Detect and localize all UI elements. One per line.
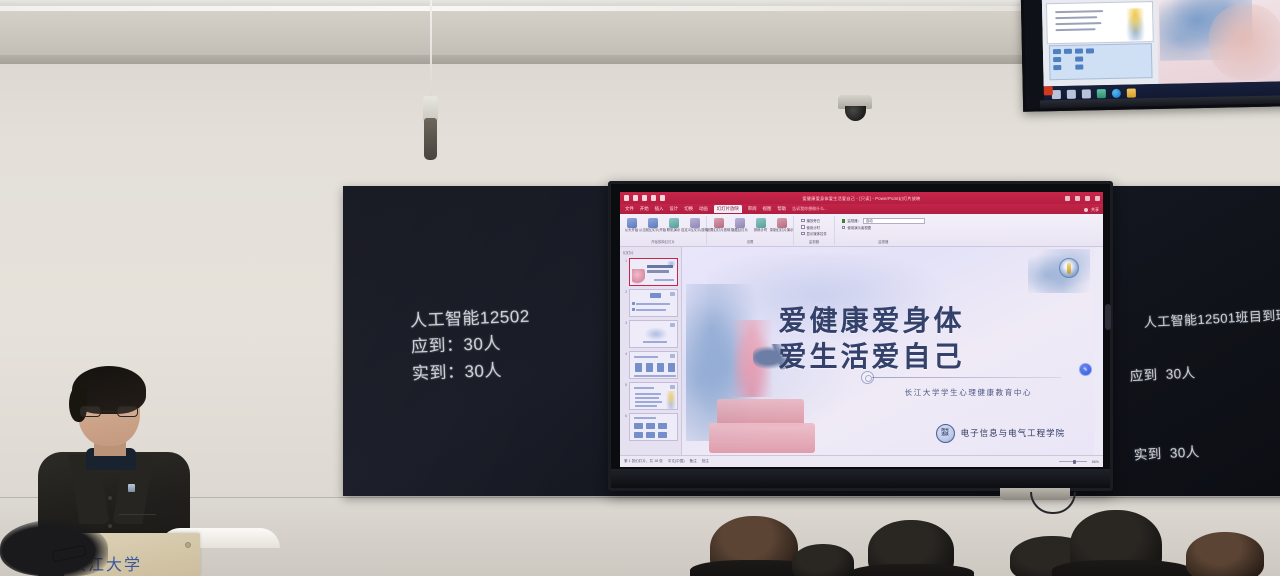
search-icon[interactable] <box>1067 89 1076 98</box>
classroom-scene: 人工智能12502 应到：30人 实到：30人 人工智能12501班目到班情况 … <box>0 0 1280 576</box>
thumbnail-row[interactable]: 1 <box>623 258 678 286</box>
thumbnail-number: 3 <box>623 320 627 325</box>
slide-thumbnail-4[interactable] <box>629 351 678 379</box>
ribbon-group-setup: 设置幻灯片放映 隐藏幻灯片 排练计时 <box>707 216 794 245</box>
checkbox-show-media-controls[interactable]: 显示媒体控件 <box>801 231 827 236</box>
slide-thumbnail-6[interactable] <box>629 413 678 441</box>
ribbon-group-name: 监视器 <box>809 239 819 245</box>
thumbnail-row[interactable]: 2 <box>623 289 678 317</box>
slide-thumbnail-1[interactable] <box>629 258 678 286</box>
right-notes-header: 人工智能12501班目到班情况 <box>1143 306 1280 330</box>
suitcase-upper-illustration <box>717 399 804 426</box>
checkbox-icon[interactable] <box>801 225 805 229</box>
checkbox-icon[interactable] <box>801 232 805 236</box>
panel-chin <box>611 469 1110 488</box>
security-shield-icon[interactable] <box>1097 89 1106 98</box>
present-online-icon <box>669 218 679 228</box>
thumbnail-number: 2 <box>623 289 627 294</box>
tab-home[interactable]: 开始 <box>640 206 649 212</box>
ribbon-btn-setup-show[interactable]: 设置幻灯片放映 <box>710 218 727 233</box>
tab-transitions[interactable]: 切换 <box>684 206 693 212</box>
slide-thumbnail-pane[interactable]: 幻灯片 1 2 <box>620 247 682 455</box>
slide-thumbnail-3[interactable] <box>629 320 678 348</box>
maximize-icon[interactable] <box>1085 196 1090 201</box>
ribbon-tab-bar[interactable]: 文件 开始 插入 设计 切换 动画 幻灯片放映 审阅 视图 帮助 告诉我你想做什… <box>620 204 1103 214</box>
monitor-bezel-left <box>1024 0 1044 109</box>
minimize-icon[interactable] <box>1075 196 1080 201</box>
ribbon-btn-record[interactable]: 录制幻灯片演示 <box>773 218 790 233</box>
ribbon-group-name: 监视器 <box>878 239 888 245</box>
account-avatar-icon[interactable] <box>1084 208 1088 212</box>
thumbnail-row[interactable]: 6 <box>623 413 678 441</box>
tab-view[interactable]: 视图 <box>763 206 772 212</box>
right-notes-line2: 实到 30人 <box>1133 433 1280 469</box>
microphone-wire <box>430 0 432 98</box>
monitor-slide-grid <box>1049 43 1152 80</box>
checkbox-use-timings[interactable]: 使用计时 <box>801 225 827 230</box>
thumbnail-row[interactable]: 5 <box>623 382 678 410</box>
interactive-flat-panel[interactable]: 爱健康爱身体爱生活爱自己 - [只读] - PowerPoint幻灯片放映 文件… <box>608 181 1113 491</box>
tab-insert[interactable]: 插入 <box>655 206 664 212</box>
thumbnails-header: 幻灯片 <box>623 251 678 256</box>
slide-footer: 阳光 活跃 电子信息与电气工程学院 <box>936 424 1066 443</box>
checkbox-presenter-view[interactable]: 使用演示者视图 <box>842 225 925 230</box>
audience-heads <box>700 496 1280 576</box>
checkbox-icon[interactable] <box>842 219 846 223</box>
slide-thumbnail-5[interactable] <box>629 382 678 410</box>
ribbon-label: 从当前幻灯片开始 <box>639 229 666 233</box>
checkbox-icon[interactable] <box>801 219 805 223</box>
setup-show-icon <box>714 218 724 228</box>
hide-slide-icon <box>735 218 745 228</box>
jacket-pocket <box>118 514 156 532</box>
document-title: 爱健康爱身体爱生活爱自己 - [只读] - PowerPoint幻灯片放映 <box>620 196 1103 202</box>
comments-button[interactable]: 批注 <box>702 459 709 464</box>
monitor-ppt-pane <box>1042 0 1158 86</box>
monitor-field-label: 监视器： <box>847 218 861 223</box>
audience-head <box>1186 532 1264 576</box>
ribbon-btn-custom-show[interactable]: 自定义幻灯片放映 <box>686 218 703 233</box>
thumbnail-row[interactable]: 4 <box>623 351 678 379</box>
ppt-title-bar: 爱健康爱身体爱生活爱自己 - [只读] - PowerPoint幻灯片放映 <box>620 192 1103 204</box>
blackboard-right-notes: 人工智能12501班目到班情况 应到 30人 实到 30人 <box>1117 275 1280 522</box>
status-right[interactable]: 66% <box>1059 460 1099 464</box>
ribbon-label: 排练计时 <box>754 229 768 233</box>
university-seal-icon <box>1059 258 1079 278</box>
title-divider <box>872 377 1062 378</box>
tab-design[interactable]: 设计 <box>669 206 678 212</box>
thumbnail-number: 6 <box>623 413 627 418</box>
ribbon-btn-hide-slide[interactable]: 隐藏幻灯片 <box>731 218 748 233</box>
slide-title[interactable]: 爱健康爱身体 爱生活爱自己 <box>682 303 1094 375</box>
slide-thumbnail-2[interactable] <box>629 289 678 317</box>
presenter-glasses-icon <box>80 406 138 417</box>
ribbon-label: 录制幻灯片演示 <box>770 229 794 233</box>
podium-knob <box>185 542 191 548</box>
ribbon-label: 从头开始 <box>625 229 639 233</box>
monitor-screen <box>1042 0 1280 86</box>
ribbon-btn-from-beginning[interactable]: 从头开始 <box>623 218 640 233</box>
university-emblem <box>1028 249 1090 293</box>
department-name: 电子信息与电气工程学院 <box>961 427 1066 439</box>
ribbon-group-name: 设置 <box>747 239 754 245</box>
monitor-select[interactable]: 自动 <box>863 218 925 224</box>
powerpoint-application[interactable]: 爱健康爱身体爱生活爱自己 - [只读] - PowerPoint幻灯片放映 文件… <box>620 192 1103 467</box>
record-slideshow-icon <box>777 218 787 228</box>
tab-review[interactable]: 审阅 <box>748 206 757 212</box>
monitor-slide-doc <box>1046 1 1154 44</box>
window-controls[interactable] <box>1065 196 1100 201</box>
audience-shoulder <box>1052 560 1192 576</box>
checkbox-play-narrations[interactable]: 播放旁白 <box>801 218 827 223</box>
notes-button[interactable]: 备注 <box>690 459 697 464</box>
tab-animations[interactable]: 动画 <box>699 206 708 212</box>
powerpoint-icon[interactable] <box>1044 86 1053 95</box>
slide-title-line-1: 爱健康爱身体 <box>682 303 1061 339</box>
checkbox-icon[interactable] <box>842 226 846 230</box>
windows-start-icon[interactable] <box>1052 90 1061 99</box>
slide-canvas[interactable]: 爱健康爱身体 爱生活爱自己 长江大学学生心理健康教育中心 阳光 活跃 电子信息与… <box>682 247 1094 455</box>
share-button[interactable]: 共享 <box>1091 207 1099 213</box>
account-area[interactable]: 共享 <box>1084 207 1099 213</box>
thumbnail-number: 4 <box>623 351 627 356</box>
edge-browser-icon[interactable] <box>1112 88 1121 97</box>
ribbon-group-start-slideshow: 从头开始 从当前幻灯片开始 联机演示 <box>620 216 707 245</box>
ribbon-options-icon[interactable] <box>1065 196 1070 201</box>
monitor-face-art <box>1208 3 1280 81</box>
zoom-level[interactable]: 66% <box>1092 460 1099 464</box>
right-notes-line1: 应到 30人 <box>1129 354 1280 390</box>
hanging-microphone-icon <box>424 118 437 160</box>
tell-me-search[interactable]: 告诉我你想做什么... <box>792 206 827 212</box>
ribbon-btn-rehearse[interactable]: 排练计时 <box>752 218 769 233</box>
jacket-button <box>108 496 112 500</box>
ceiling-light-strip <box>0 6 1030 11</box>
tab-file[interactable]: 文件 <box>625 206 634 212</box>
audience-head <box>792 544 854 576</box>
audience-shoulder <box>850 564 974 576</box>
panel-screen[interactable]: 爱健康爱身体爱生活爱自己 - [只读] - PowerPoint幻灯片放映 文件… <box>620 192 1103 467</box>
suitcase-lower-illustration <box>709 423 815 454</box>
thumbnail-number: 5 <box>623 382 627 387</box>
ribbon-label: 自定义幻灯片放映 <box>681 229 708 233</box>
foreground-student-left <box>0 520 120 576</box>
badge-line-2: 活跃 <box>941 433 949 437</box>
secondary-monitor <box>1021 0 1280 112</box>
checkbox-label: 使用计时 <box>807 225 821 230</box>
ribbon[interactable]: 从头开始 从当前幻灯片开始 联机演示 <box>620 214 1103 247</box>
status-left: 第 1 张幻灯片，共 18 张 中文(中国) 备注 批注 <box>624 459 709 464</box>
float-button-glyph: ✎ <box>1083 367 1087 373</box>
tab-help[interactable]: 帮助 <box>777 206 786 212</box>
monitor-select-row[interactable]: 监视器： 自动 <box>842 218 925 224</box>
language-indicator[interactable]: 中文(中国) <box>668 459 685 464</box>
custom-show-icon <box>690 218 700 228</box>
ribbon-group-name: 开始放映幻灯片 <box>651 239 675 245</box>
checkbox-label: 播放旁白 <box>807 218 821 223</box>
checkbox-label: 显示媒体控件 <box>807 231 827 236</box>
file-explorer-icon[interactable] <box>1127 88 1136 97</box>
ribbon-group-options: 播放旁白 使用计时 显示媒体控件 监视器 <box>794 216 835 245</box>
zoom-slider-handle[interactable] <box>1073 460 1076 464</box>
department-badge-icon: 阳光 活跃 <box>936 424 955 443</box>
lapel-pin <box>128 484 135 492</box>
ribbon-btn-present-online[interactable]: 联机演示 <box>665 218 682 233</box>
slide-counter: 第 1 张幻灯片，共 18 张 <box>624 459 663 464</box>
ribbon-label: 设置幻灯片放映 <box>707 229 731 233</box>
checkbox-label: 使用演示者视图 <box>847 225 871 230</box>
thumbnail-row[interactable]: 3 <box>623 320 678 348</box>
slide-title-line-2: 爱生活爱自己 <box>682 339 1061 375</box>
thumbnail-number: 1 <box>623 258 627 263</box>
ribbon-label: 隐藏幻灯片 <box>731 229 748 233</box>
student-hair <box>0 520 108 576</box>
rehearse-timings-icon <box>756 218 766 228</box>
ppt-status-bar[interactable]: 第 1 张幻灯片，共 18 张 中文(中国) 备注 批注 66% <box>620 455 1103 467</box>
ribbon-btn-from-current[interactable]: 从当前幻灯片开始 <box>644 218 661 233</box>
close-icon[interactable] <box>1095 196 1100 201</box>
slideshow-start-icon <box>627 218 637 228</box>
zoom-slider[interactable] <box>1059 461 1087 462</box>
task-view-icon[interactable] <box>1082 89 1091 98</box>
blackboard-left-notes: 人工智能12502 应到：30人 实到：30人 <box>410 304 533 388</box>
slide-subtitle: 长江大学学生心理健康教育中心 <box>872 387 1066 398</box>
ribbon-label: 联机演示 <box>667 229 681 233</box>
panel-side-button[interactable] <box>1105 304 1111 330</box>
tab-slideshow[interactable]: 幻灯片放映 <box>714 205 742 213</box>
monitor-artwork-pane <box>1157 0 1280 84</box>
ribbon-group-monitors: 监视器： 自动 使用演示者视图 监视器 <box>835 216 932 245</box>
current-slide[interactable]: 爱健康爱身体 爱生活爱自己 长江大学学生心理健康教育中心 阳光 活跃 电子信息与… <box>682 247 1094 455</box>
monitor-flower-art <box>1124 8 1147 40</box>
slideshow-current-icon <box>648 218 658 228</box>
